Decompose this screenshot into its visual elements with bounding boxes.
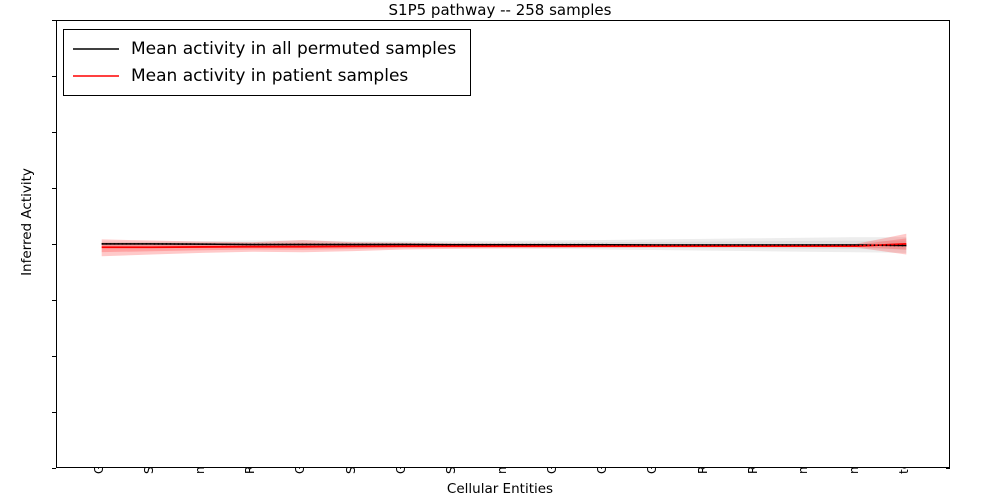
y-tick-mark-right <box>946 468 950 469</box>
figure-canvas: S1P5 pathway -- 258 samples Inferred Act… <box>0 0 1000 500</box>
legend-swatch-permuted <box>73 47 119 51</box>
y-tick-mark <box>52 468 56 469</box>
legend-swatch-patient <box>73 74 119 78</box>
legend-item[interactable]: Mean activity in patient samples <box>73 62 456 89</box>
chart-legend: Mean activity in all permuted samples Me… <box>63 29 471 96</box>
legend-item[interactable]: Mean activity in all permuted samples <box>73 35 456 62</box>
x-axis-label: Cellular Entities <box>0 481 1000 497</box>
y-axis-label: Inferred Activity <box>19 0 35 446</box>
chart-title: S1P5 pathway -- 258 samples <box>0 0 1000 20</box>
legend-label-patient: Mean activity in patient samples <box>131 66 408 86</box>
legend-label-permuted: Mean activity in all permuted samples <box>131 39 456 59</box>
